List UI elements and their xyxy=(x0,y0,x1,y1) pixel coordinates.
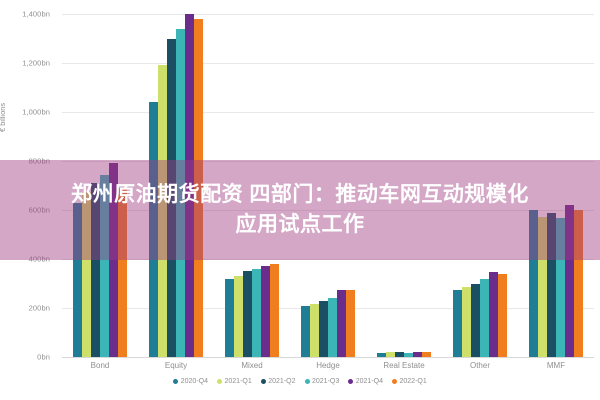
bar-equity-2020-Q4[interactable] xyxy=(149,102,158,357)
plot-area: 0bn200bn400bn600bn800bn1,000bn1,200bn1,4… xyxy=(62,14,594,357)
legend-swatch-icon xyxy=(173,379,178,384)
legend-label: 2022-Q1 xyxy=(400,378,427,385)
bar-mmf-2020-Q4[interactable] xyxy=(529,210,538,357)
legend-label: 2020-Q4 xyxy=(181,378,208,385)
bar-bond-2021-Q2[interactable] xyxy=(91,183,100,357)
bar-other-2021-Q3[interactable] xyxy=(480,279,489,357)
bar-bond-2021-Q1[interactable] xyxy=(82,192,91,357)
bar-real-estate-2021-Q1[interactable] xyxy=(386,352,395,357)
bar-group-equity: Equity xyxy=(138,14,214,357)
bar-other-2020-Q4[interactable] xyxy=(453,290,462,357)
bar-group-bars xyxy=(214,14,290,357)
legend-swatch-icon xyxy=(305,379,310,384)
bar-other-2021-Q2[interactable] xyxy=(471,284,480,358)
bar-real-estate-2021-Q2[interactable] xyxy=(395,352,404,357)
bar-real-estate-2021-Q3[interactable] xyxy=(404,353,413,357)
y-axis-tick-label: 0bn xyxy=(0,353,50,362)
x-axis-label-mixed: Mixed xyxy=(214,361,290,370)
y-axis-tick-label: 400bn xyxy=(0,255,50,264)
bar-mmf-2021-Q4[interactable] xyxy=(565,205,574,357)
legend-item-2021-Q1[interactable]: 2021-Q1 xyxy=(217,378,252,385)
legend-item-2022-Q1[interactable]: 2022-Q1 xyxy=(392,378,427,385)
bar-other-2022-Q1[interactable] xyxy=(498,274,507,357)
bar-hedge-2021-Q2[interactable] xyxy=(319,301,328,357)
chart-legend[interactable]: 2020-Q42021-Q12021-Q22021-Q32021-Q42022-… xyxy=(0,378,600,385)
bar-group-bars xyxy=(138,14,214,357)
legend-label: 2021-Q2 xyxy=(268,378,295,385)
bar-mmf-2022-Q1[interactable] xyxy=(574,210,583,357)
legend-item-2021-Q4[interactable]: 2021-Q4 xyxy=(348,378,383,385)
legend-label: 2021-Q1 xyxy=(225,378,252,385)
x-axis-label-hedge: Hedge xyxy=(290,361,366,370)
bar-bond-2022-Q1[interactable] xyxy=(118,188,127,357)
x-axis-label-mmf: MMF xyxy=(518,361,594,370)
bar-hedge-2021-Q3[interactable] xyxy=(328,298,337,357)
bar-hedge-2020-Q4[interactable] xyxy=(301,306,310,357)
bar-group-other: Other xyxy=(442,14,518,357)
bar-group-mixed: Mixed xyxy=(214,14,290,357)
legend-item-2021-Q3[interactable]: 2021-Q3 xyxy=(305,378,340,385)
bar-group-bars xyxy=(290,14,366,357)
bar-other-2021-Q4[interactable] xyxy=(489,272,498,357)
y-axis-tick-label: 600bn xyxy=(0,206,50,215)
legend-item-2021-Q2[interactable]: 2021-Q2 xyxy=(261,378,296,385)
bar-equity-2021-Q1[interactable] xyxy=(158,65,167,357)
bar-bond-2020-Q4[interactable] xyxy=(73,203,82,357)
bar-mixed-2020-Q4[interactable] xyxy=(225,279,234,357)
bar-equity-2021-Q4[interactable] xyxy=(185,14,194,357)
bar-group-bars xyxy=(442,14,518,357)
y-axis-tick-label: 200bn xyxy=(0,304,50,313)
bar-group-hedge: Hedge xyxy=(290,14,366,357)
x-axis-label-equity: Equity xyxy=(138,361,214,370)
legend-swatch-icon xyxy=(348,379,353,384)
y-axis-tick-label: 1,200bn xyxy=(0,59,50,68)
bar-group-bars xyxy=(518,14,594,357)
bar-mixed-2022-Q1[interactable] xyxy=(270,264,279,357)
y-axis-title: € billions xyxy=(0,103,7,132)
bar-other-2021-Q1[interactable] xyxy=(462,287,471,357)
bar-mmf-2021-Q2[interactable] xyxy=(547,213,556,357)
bar-mixed-2021-Q4[interactable] xyxy=(261,266,270,357)
bar-group-real-estate: Real Estate xyxy=(366,14,442,357)
bar-hedge-2021-Q4[interactable] xyxy=(337,290,346,357)
bar-bond-2021-Q3[interactable] xyxy=(100,175,109,357)
x-axis-label-bond: Bond xyxy=(62,361,138,370)
bar-group-mmf: MMF xyxy=(518,14,594,357)
legend-label: 2021-Q4 xyxy=(356,378,383,385)
legend-swatch-icon xyxy=(261,379,266,384)
y-axis-tick-label: 800bn xyxy=(0,157,50,166)
bar-equity-2021-Q3[interactable] xyxy=(176,29,185,357)
bar-real-estate-2021-Q4[interactable] xyxy=(413,352,422,357)
bar-mixed-2021-Q1[interactable] xyxy=(234,276,243,357)
bar-group-bars xyxy=(62,14,138,357)
bar-chart: 0bn200bn400bn600bn800bn1,000bn1,200bn1,4… xyxy=(0,0,600,400)
x-axis-label-real-estate: Real Estate xyxy=(366,361,442,370)
bar-group-bond: Bond xyxy=(62,14,138,357)
gridline xyxy=(62,357,594,358)
bar-equity-2021-Q2[interactable] xyxy=(167,39,176,358)
bar-hedge-2022-Q1[interactable] xyxy=(346,290,355,357)
y-axis-tick-label: 1,400bn xyxy=(0,10,50,19)
legend-swatch-icon xyxy=(392,379,397,384)
legend-label: 2021-Q3 xyxy=(312,378,339,385)
bar-bond-2021-Q4[interactable] xyxy=(109,163,118,357)
legend-swatch-icon xyxy=(217,379,222,384)
y-axis-tick-label: 1,000bn xyxy=(0,108,50,117)
x-axis-label-other: Other xyxy=(442,361,518,370)
bar-equity-2022-Q1[interactable] xyxy=(194,19,203,357)
bar-real-estate-2022-Q1[interactable] xyxy=(422,352,431,357)
bar-hedge-2021-Q1[interactable] xyxy=(310,304,319,357)
legend-item-2020-Q4[interactable]: 2020-Q4 xyxy=(173,378,208,385)
bar-mixed-2021-Q2[interactable] xyxy=(243,271,252,357)
bar-real-estate-2020-Q4[interactable] xyxy=(377,353,386,357)
bar-group-bars xyxy=(366,14,442,357)
bar-mmf-2021-Q1[interactable] xyxy=(538,217,547,357)
bar-mixed-2021-Q3[interactable] xyxy=(252,269,261,357)
bar-mmf-2021-Q3[interactable] xyxy=(556,218,565,357)
